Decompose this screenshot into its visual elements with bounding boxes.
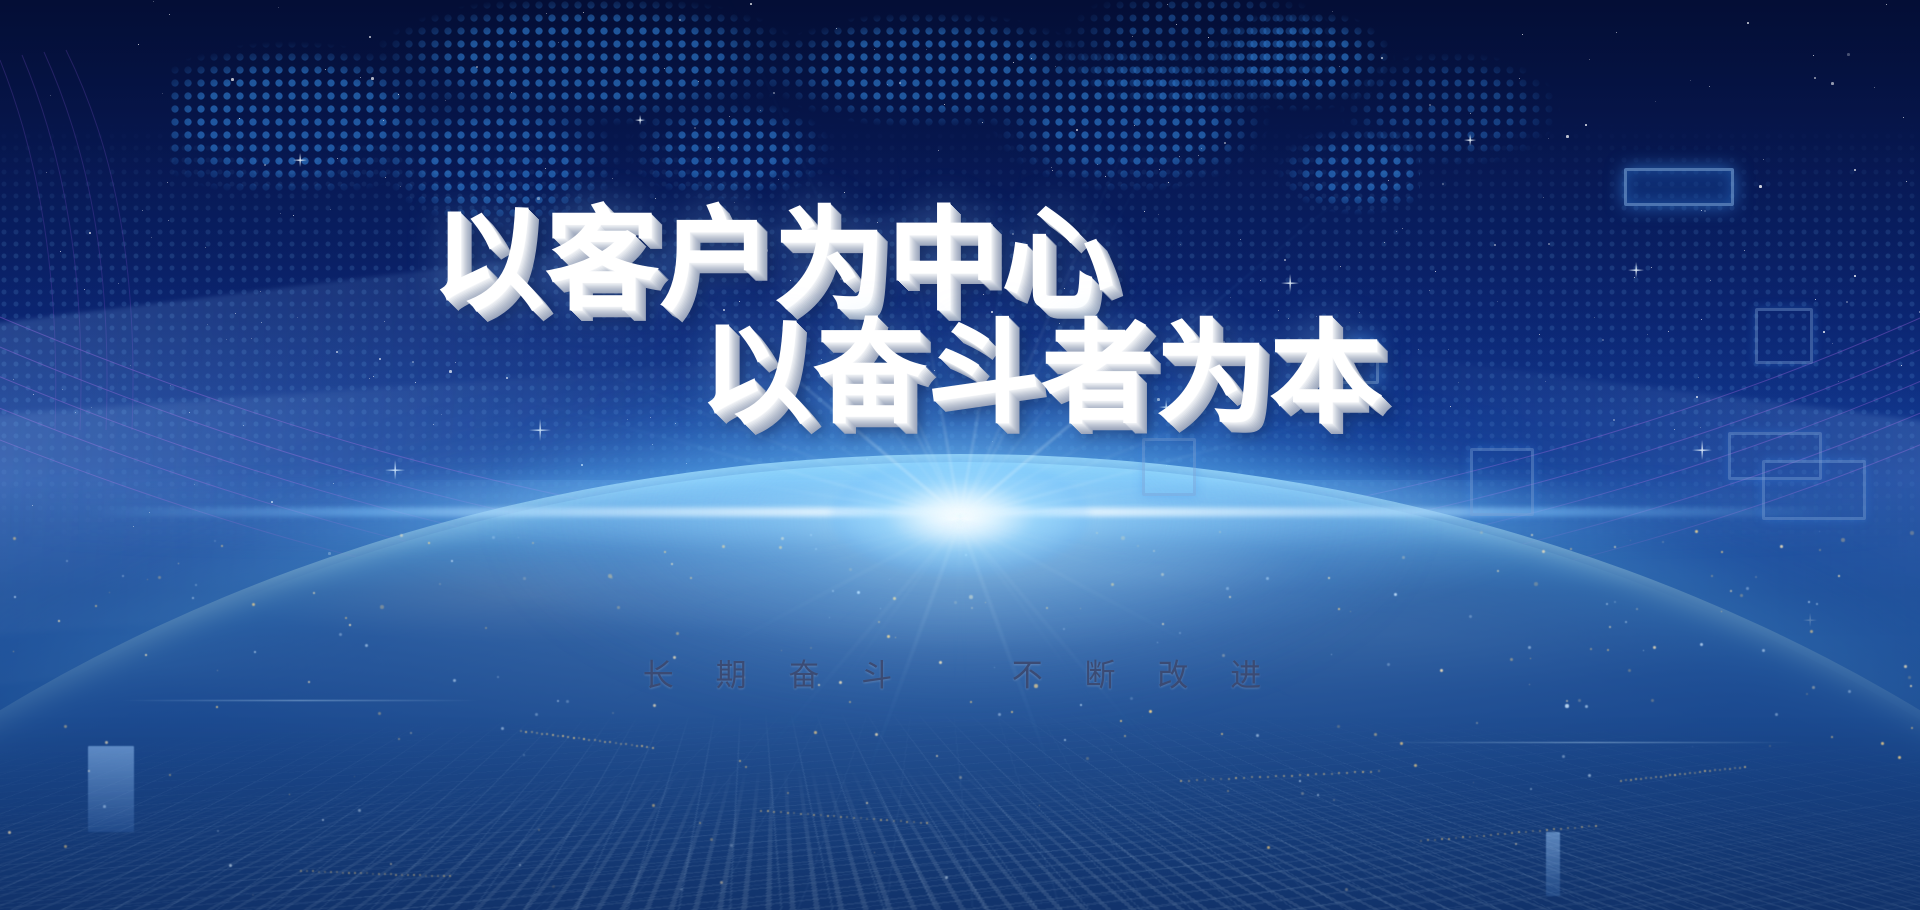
light-streak-1 <box>120 700 480 701</box>
light-streak-2 <box>1380 742 1800 743</box>
decor-rect-center-right <box>1337 340 1379 384</box>
decor-rect-title-overlap <box>1142 438 1196 496</box>
decor-rect-mid-right <box>1755 308 1813 364</box>
banner-canvas: 以客户为中心 以奋斗者为本 长 期 奋 斗 不 断 改 进 <box>0 0 1920 910</box>
decor-rect-lower-right-b <box>1762 460 1866 520</box>
decor-rect-top-right-wide <box>1624 168 1734 206</box>
decor-rect-under-title <box>1470 448 1534 516</box>
city-tower-left <box>88 746 134 832</box>
city-tower-right <box>1546 832 1560 896</box>
